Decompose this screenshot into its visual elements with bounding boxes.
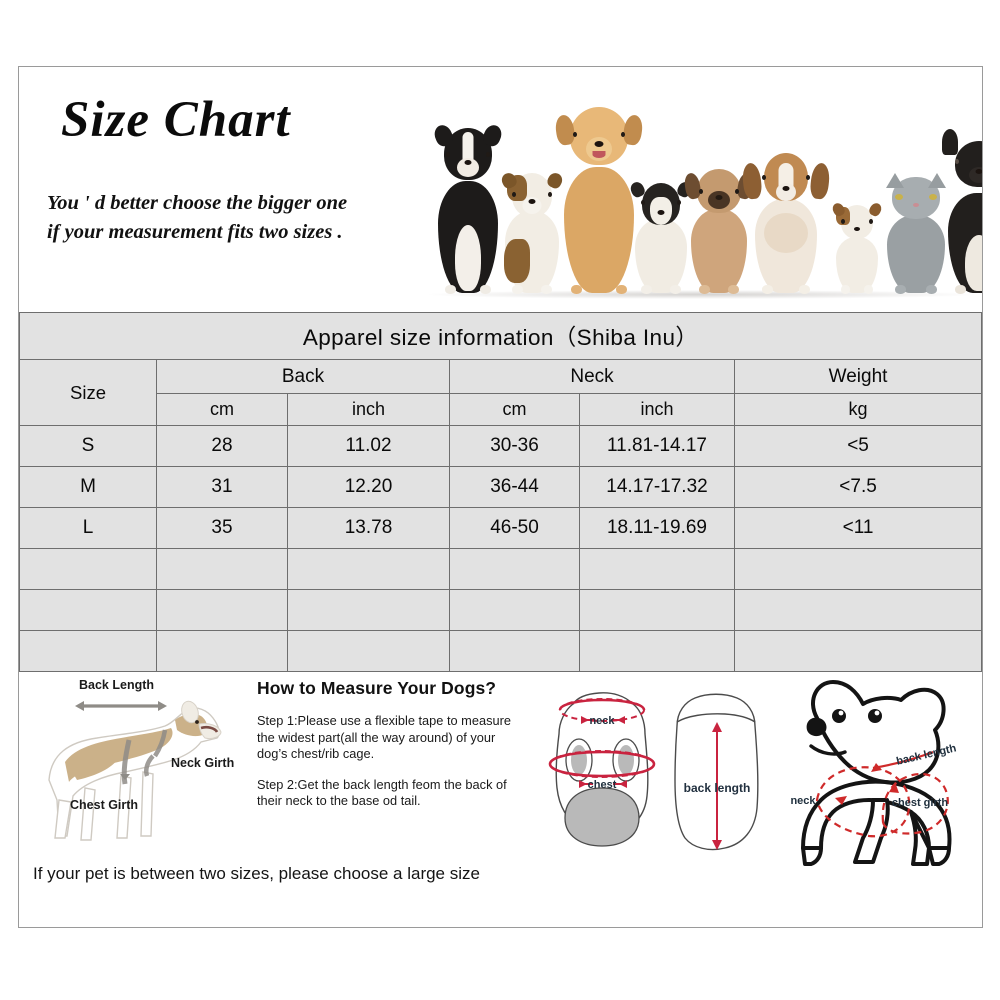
cell-weight-kg: <7.5 <box>735 467 982 508</box>
cell-back-cm: 31 <box>157 467 288 508</box>
cell-neck-inch: 11.81-14.17 <box>580 426 735 467</box>
table-caption: Apparel size information（Shiba Inu） <box>20 313 982 360</box>
pet-beagle <box>749 153 823 293</box>
cartoon-chest-girth-label: chest girth <box>892 797 949 809</box>
page-subtitle: You ' d better choose the bigger one if … <box>47 189 347 247</box>
header-neck-inch: inch <box>580 394 735 426</box>
pet-terrier-black-white <box>631 183 691 293</box>
garment-back-length-label: back length <box>684 781 751 795</box>
table-unit-header-row: cm inch cm inch kg <box>20 394 982 426</box>
pet-small-puppy <box>833 205 881 293</box>
cell-neck-cm: 30-36 <box>450 426 580 467</box>
cell-neck-cm: 36-44 <box>450 467 580 508</box>
cell-back-cm: 28 <box>157 426 288 467</box>
cell-neck-cm: 46-50 <box>450 508 580 549</box>
empty-cell <box>735 590 982 631</box>
page-title: Size Chart <box>61 91 291 149</box>
empty-cell <box>580 590 735 631</box>
header-back-inch: inch <box>288 394 450 426</box>
footer-note: If your pet is between two sizes, please… <box>33 864 480 884</box>
pet-golden-retriever <box>557 107 641 293</box>
empty-cell <box>20 631 157 672</box>
header-back-cm: cm <box>157 394 288 426</box>
header-group-neck: Neck <box>450 360 735 394</box>
label-neck-girth: Neck Girth <box>171 756 234 770</box>
subtitle-line-1: You ' d better choose the bigger one <box>47 189 347 218</box>
pet-border-collie <box>433 128 503 293</box>
empty-cell <box>288 631 450 672</box>
empty-cell <box>288 590 450 631</box>
cell-weight-kg: <11 <box>735 508 982 549</box>
header-size: Size <box>20 360 157 426</box>
header-group-back: Back <box>157 360 450 394</box>
how-to-measure-block: How to Measure Your Dogs? Step 1:Please … <box>257 678 525 824</box>
cell-size: M <box>20 467 157 508</box>
table-row: S 28 11.02 30-36 11.81-14.17 <5 <box>20 426 982 467</box>
empty-cell <box>157 549 288 590</box>
pet-jack-russell <box>501 173 563 293</box>
table-row-empty <box>20 549 982 590</box>
label-back-length: Back Length <box>79 678 154 692</box>
cell-neck-inch: 18.11-19.69 <box>580 508 735 549</box>
table-caption-row: Apparel size information（Shiba Inu） <box>20 313 982 360</box>
empty-cell <box>450 631 580 672</box>
pet-french-bulldog <box>943 141 982 293</box>
cell-weight-kg: <5 <box>735 426 982 467</box>
how-to-heading: How to Measure Your Dogs? <box>257 678 525 699</box>
measure-step-1: Step 1:Please use a flexible tape to mea… <box>257 713 525 763</box>
table-row-empty <box>20 631 982 672</box>
size-chart-page: Size Chart You ' d better choose the big… <box>0 0 1000 1000</box>
table-group-header-row: Size Back Neck Weight <box>20 360 982 394</box>
empty-cell <box>580 549 735 590</box>
pet-pekingese <box>687 169 751 293</box>
cell-back-cm: 35 <box>157 508 288 549</box>
pets-photo-strip <box>419 79 982 311</box>
size-table: Apparel size information（Shiba Inu） Size… <box>19 312 982 672</box>
empty-cell <box>450 549 580 590</box>
cell-size: S <box>20 426 157 467</box>
empty-cell <box>157 631 288 672</box>
empty-cell <box>157 590 288 631</box>
empty-cell <box>580 631 735 672</box>
table-row: L 35 13.78 46-50 18.11-19.69 <11 <box>20 508 982 549</box>
pet-grey-cat <box>883 177 949 293</box>
header-group-weight: Weight <box>735 360 982 394</box>
cell-back-inch: 11.02 <box>288 426 450 467</box>
empty-cell <box>735 631 982 672</box>
measure-section: Back Length Neck Girth Chest Girth How t… <box>19 672 982 910</box>
empty-cell <box>288 549 450 590</box>
cartoon-neck-label: neck <box>790 795 816 807</box>
empty-cell <box>20 549 157 590</box>
empty-cell <box>450 590 580 631</box>
header-weight-kg: kg <box>735 394 982 426</box>
dog-measure-diagram: Back Length Neck Girth Chest Girth <box>25 676 243 858</box>
table-row: M 31 12.20 36-44 14.17-17.32 <7.5 <box>20 467 982 508</box>
chart-frame: Size Chart You ' d better choose the big… <box>18 66 983 928</box>
cartoon-dog-diagram: neck back length chest girth <box>777 672 983 872</box>
label-chest-girth: Chest Girth <box>70 798 138 812</box>
cell-back-inch: 12.20 <box>288 467 450 508</box>
cell-back-inch: 13.78 <box>288 508 450 549</box>
cell-neck-inch: 14.17-17.32 <box>580 467 735 508</box>
cell-size: L <box>20 508 157 549</box>
header-band: Size Chart You ' d better choose the big… <box>19 67 982 312</box>
header-neck-cm: cm <box>450 394 580 426</box>
empty-cell <box>735 549 982 590</box>
garment-diagrams: neck chest <box>529 676 769 866</box>
empty-cell <box>20 590 157 631</box>
garment-neck-label: neck <box>589 715 615 727</box>
measure-step-2: Step 2:Get the back length feom the back… <box>257 777 525 810</box>
subtitle-line-2: if your measurement fits two sizes . <box>47 218 347 247</box>
table-row-empty <box>20 590 982 631</box>
